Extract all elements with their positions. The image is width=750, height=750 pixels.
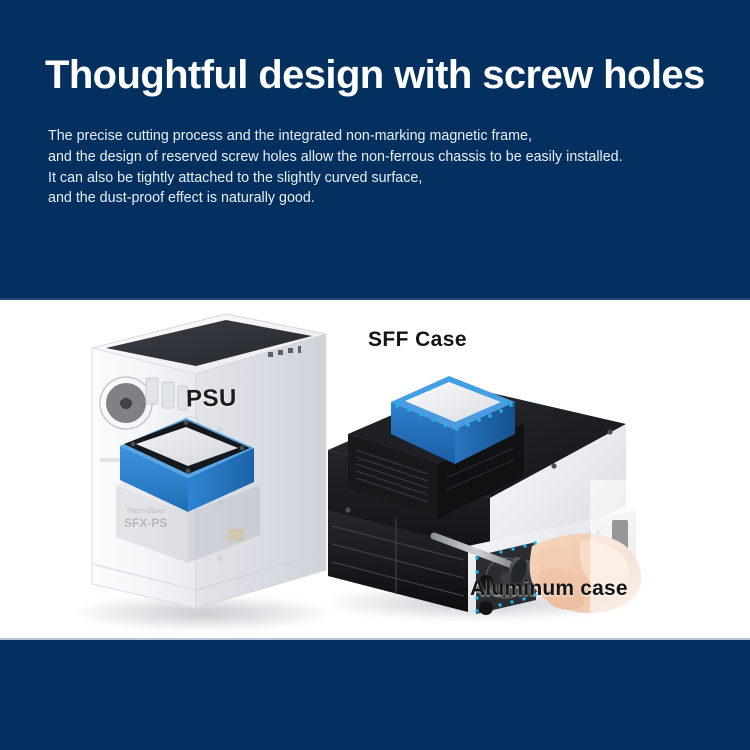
page-title: Thoughtful design with screw holes xyxy=(45,53,705,98)
description-block: The precise cutting process and the inte… xyxy=(48,126,623,209)
description-line: The precise cutting process and the inte… xyxy=(48,126,623,147)
psu-magnetic-dust-filter xyxy=(112,408,262,528)
description-line: and the dust-proof effect is naturally g… xyxy=(48,188,623,209)
product-photo-panel: Thermaltake SFX-PS xyxy=(0,300,750,640)
product-photo: Thermaltake SFX-PS xyxy=(0,300,750,640)
sff-case-magnetic-dust-filter xyxy=(383,368,523,478)
footer-banner xyxy=(0,640,750,750)
description-line: and the design of reserved screw holes a… xyxy=(48,147,623,168)
description-line: It can also be tightly attached to the s… xyxy=(48,168,623,189)
label-sff-case: SFF Case xyxy=(368,328,467,352)
header-banner: Thoughtful design with screw holes The p… xyxy=(0,0,750,298)
label-aluminum-case: Aluminum case xyxy=(470,577,628,601)
label-psu: PSU xyxy=(186,385,237,414)
